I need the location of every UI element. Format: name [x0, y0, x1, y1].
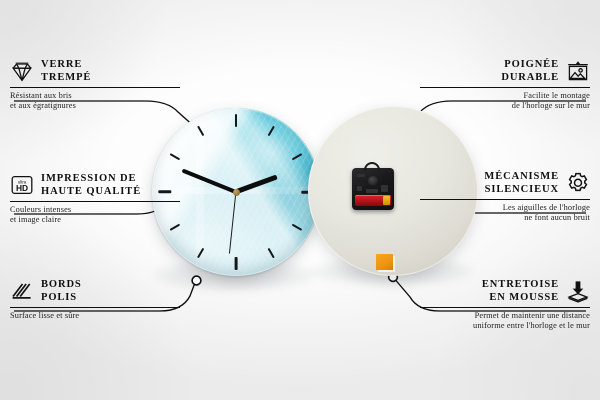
- feature-title-line1: VERRE: [41, 59, 82, 70]
- feature-heading: BORDS POLIS: [10, 278, 180, 304]
- feature-divider: [10, 87, 180, 88]
- feature-desc-line2: uniforme entre l'horloge et le mur: [473, 321, 590, 330]
- feature-divider: [420, 87, 590, 88]
- feature-divider: [420, 307, 590, 308]
- feature-desc-line2: de l'horloge sur le mur: [512, 101, 590, 110]
- feature-heading: ENTRETOISE EN MOUSSE: [420, 278, 590, 304]
- feature-desc-line1: Couleurs intenses: [10, 205, 71, 214]
- feature-desc-line2: ne font aucun bruit: [524, 213, 590, 222]
- feature-title-line1: BORDS: [41, 279, 82, 290]
- feature-title-line2: POLIS: [41, 292, 77, 303]
- feature-title: BORDS POLIS: [41, 278, 82, 304]
- ultra-hd-icon: ultra HD: [10, 173, 34, 197]
- feature-title: POIGNÉE DURABLE: [501, 58, 559, 84]
- feature-desc-line2: et aux égratignures: [10, 101, 76, 110]
- callout-dot-bords-polis: [192, 276, 201, 285]
- feature-divider: [10, 201, 180, 202]
- feature-description: Les aiguilles de l'horloge ne font aucun…: [420, 203, 590, 224]
- hanging-loop: [364, 162, 380, 171]
- feature-mecanisme-silencieux: MÉCANISME SILENCIEUX Les aiguilles de l'…: [420, 170, 590, 224]
- feature-divider: [10, 307, 180, 308]
- feature-title: VERRE TREMPÉ: [41, 58, 91, 84]
- feature-title: ENTRETOISE EN MOUSSE: [482, 278, 559, 304]
- foam-spacer-icon: [566, 279, 590, 303]
- feature-heading: VERRE TREMPÉ: [10, 58, 180, 84]
- feature-description: Permet de maintenir une distance uniform…: [420, 311, 590, 332]
- feature-heading: POIGNÉE DURABLE: [420, 58, 590, 84]
- svg-text:HD: HD: [16, 183, 28, 193]
- feature-title-line1: ENTRETOISE: [482, 279, 559, 290]
- feature-description: Surface lisse et sûre: [10, 311, 180, 321]
- mechanism-detail: [357, 186, 362, 191]
- diamond-icon: [10, 59, 34, 83]
- feature-poignee-durable: POIGNÉE DURABLE Facilite le montage de l…: [420, 58, 590, 112]
- feature-title-line1: MÉCANISME: [484, 171, 559, 182]
- feature-description: Couleurs intenses et image claire: [10, 205, 180, 226]
- feature-title-line2: DURABLE: [501, 72, 559, 83]
- feature-title-line2: EN MOUSSE: [489, 292, 559, 303]
- feature-heading: MÉCANISME SILENCIEUX: [420, 170, 590, 196]
- feature-title: MÉCANISME SILENCIEUX: [484, 170, 559, 196]
- feature-verre-trempe: VERRE TREMPÉ Résistant aux bris et aux é…: [10, 58, 180, 112]
- feature-title-line1: POIGNÉE: [504, 59, 559, 70]
- feature-desc-line1: Résistant aux bris: [10, 91, 72, 100]
- clock-mechanism: [352, 168, 394, 210]
- hanging-frame-icon: [566, 59, 590, 83]
- polished-edges-icon: [10, 279, 34, 303]
- feature-desc-line1: Surface lisse et sûre: [10, 311, 79, 320]
- feature-heading: ultra HD IMPRESSION DE HAUTE QUALITÉ: [10, 172, 180, 198]
- feature-description: Facilite le montage de l'horloge sur le …: [420, 91, 590, 112]
- feature-desc-line1: Les aiguilles de l'horloge: [503, 203, 590, 212]
- feature-title-line2: HAUTE QUALITÉ: [41, 186, 141, 197]
- battery-positive-terminal: [383, 196, 390, 205]
- mechanism-detail: [357, 174, 365, 177]
- gear-icon: [566, 171, 590, 195]
- mechanism-detail: [366, 189, 378, 193]
- battery: [355, 195, 391, 206]
- product-feature-infographic: VERRE TREMPÉ Résistant aux bris et aux é…: [0, 0, 600, 400]
- feature-title-line1: IMPRESSION DE: [41, 173, 136, 184]
- feature-desc-line2: et image claire: [10, 215, 61, 224]
- feature-title-line2: SILENCIEUX: [485, 184, 559, 195]
- feature-title: IMPRESSION DE HAUTE QUALITÉ: [41, 172, 141, 198]
- mechanism-shaft: [368, 176, 378, 186]
- feature-title-line2: TREMPÉ: [41, 72, 91, 83]
- feature-bords-polis: BORDS POLIS Surface lisse et sûre: [10, 278, 180, 321]
- feature-desc-line1: Facilite le montage: [524, 91, 590, 100]
- feature-divider: [420, 199, 590, 200]
- feature-description: Résistant aux bris et aux égratignures: [10, 91, 180, 112]
- feature-desc-line1: Permet de maintenir une distance: [475, 311, 590, 320]
- foam-spacer-pad: [376, 254, 393, 270]
- mechanism-detail: [381, 185, 388, 192]
- feature-entretoise-en-mousse: ENTRETOISE EN MOUSSE Permet de maintenir…: [420, 278, 590, 332]
- feature-impression-haute-qualite: ultra HD IMPRESSION DE HAUTE QUALITÉ Cou…: [10, 172, 180, 226]
